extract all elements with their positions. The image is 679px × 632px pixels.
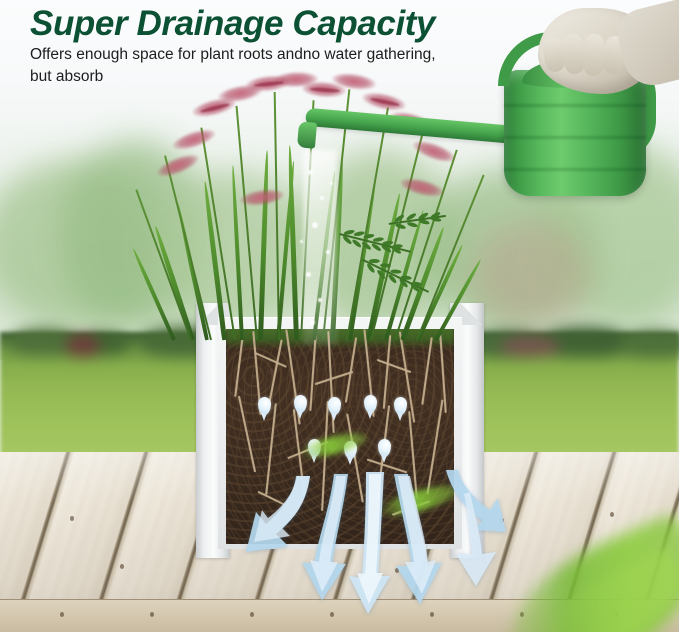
grass-plume — [171, 126, 217, 154]
can-spout-tip — [297, 121, 317, 148]
marketing-scene: Super Drainage Capacity Offers enough sp… — [0, 0, 679, 632]
down-arrow-icon — [440, 470, 512, 590]
grass-plume — [239, 187, 285, 208]
water-stream — [303, 150, 337, 345]
down-arrow-icon — [346, 472, 396, 618]
grass-plume — [155, 150, 201, 180]
drainage-arrows — [196, 470, 496, 632]
grass-plume — [411, 137, 457, 166]
sub-headline: Offers enough space for plant roots andn… — [30, 44, 460, 88]
green-watering-can — [470, 8, 679, 220]
headline: Super Drainage Capacity — [30, 4, 435, 44]
